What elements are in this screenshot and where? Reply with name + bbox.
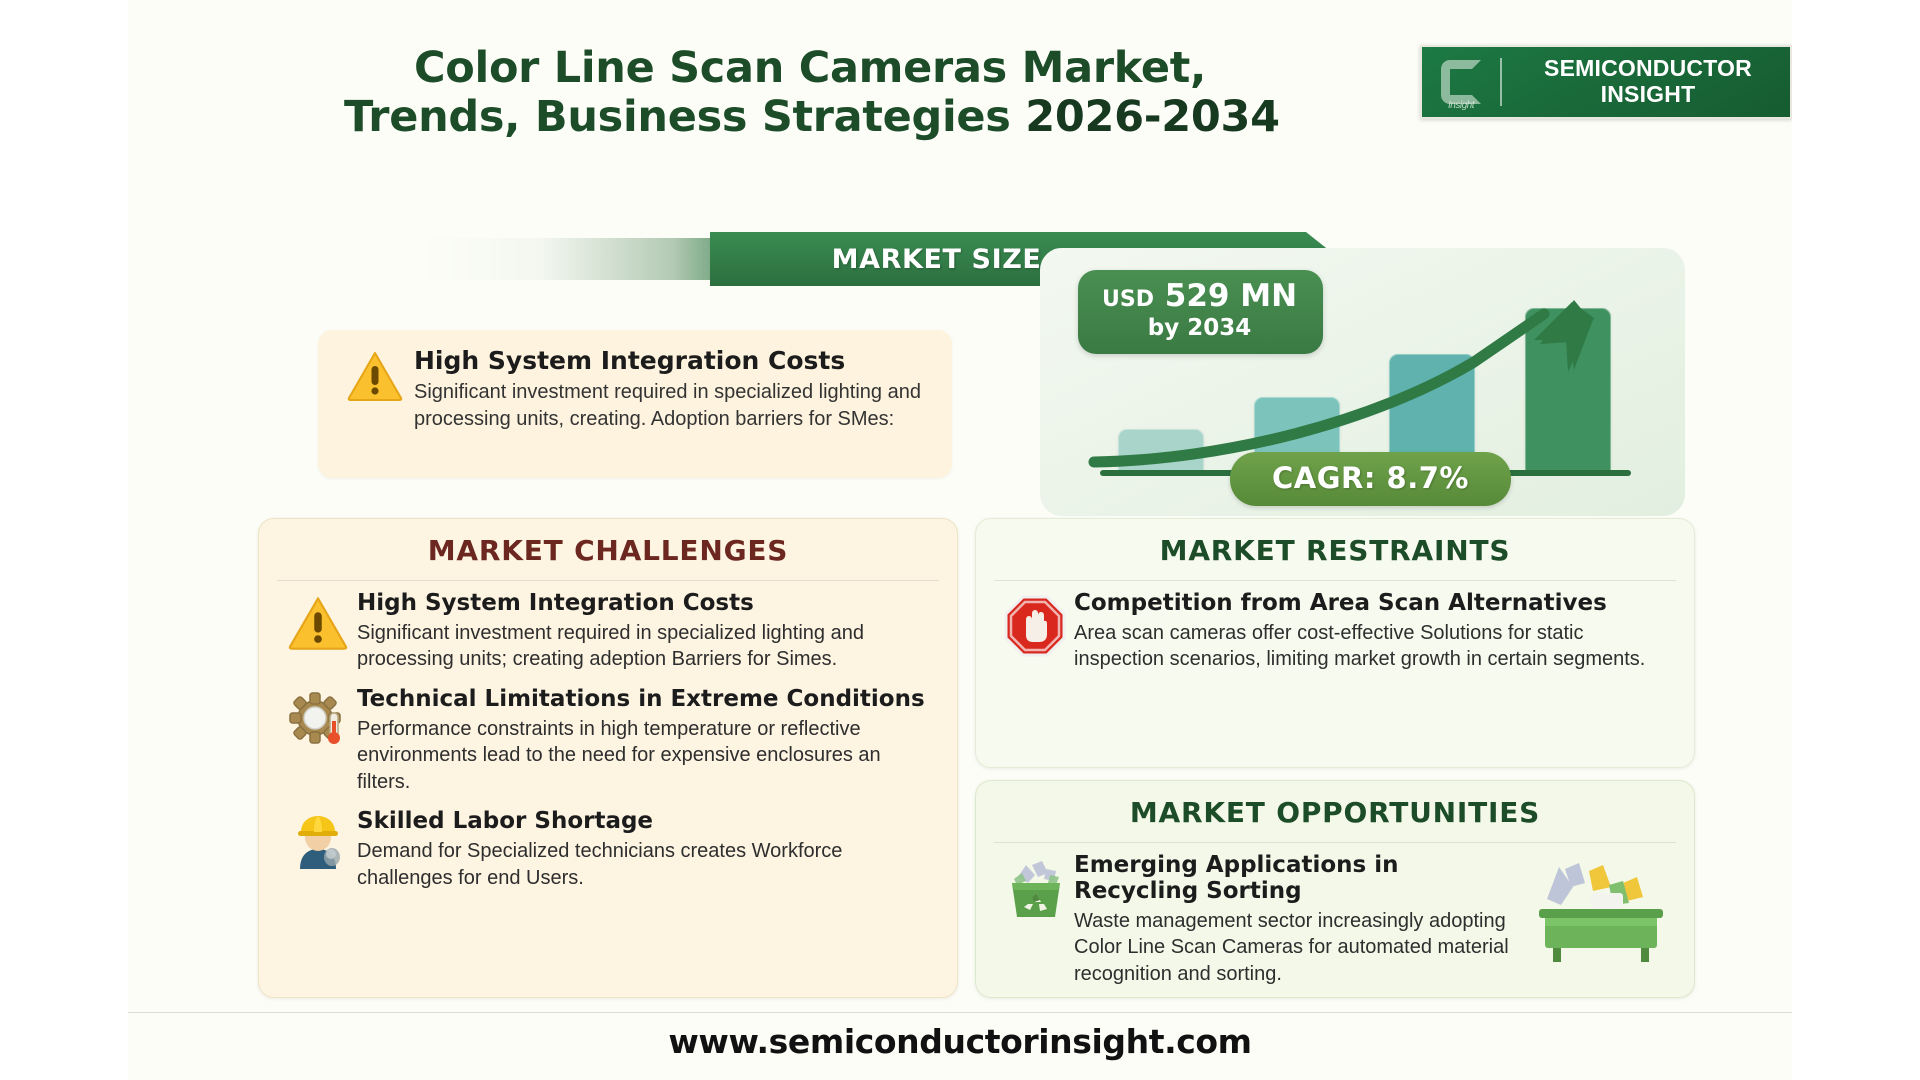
infographic-canvas: Color Line Scan Cameras Market, Trends, … — [0, 0, 1920, 1080]
item-description: Performance constraints in high temperat… — [357, 716, 933, 796]
gear-thermometer-icon — [281, 687, 355, 796]
title-line-2: Trends, Business Strategies 2026-2034 — [330, 93, 1390, 142]
list-item: Skilled Labor Shortage Demand for Specia… — [281, 809, 933, 891]
highlight-text: High System Integration Costs Significan… — [412, 346, 930, 462]
brand-logo: Insight SEMICONDUCTOR INSIGHT — [1420, 45, 1792, 119]
panel-opportunities-title: MARKET OPPORTUNITIES — [1130, 796, 1540, 829]
bar-0 — [1118, 429, 1204, 472]
market-value-line: USD 529 MN — [1102, 281, 1297, 312]
sorting-bin-icon — [1530, 853, 1670, 987]
page-title: Color Line Scan Cameras Market, Trends, … — [330, 44, 1390, 142]
panel-market-opportunities: MARKET OPPORTUNITIES — [975, 780, 1695, 998]
footer-divider — [128, 1012, 1792, 1013]
logo-line-2: INSIGHT — [1506, 82, 1790, 108]
warning-triangle-icon — [338, 346, 412, 462]
list-item: Emerging Applications in Recycling Sorti… — [998, 853, 1670, 987]
warning-triangle-icon — [281, 591, 355, 673]
highlight-card: High System Integration Costs Significan… — [318, 330, 952, 478]
panel-restraints-header: MARKET RESTRAINTS — [976, 519, 1694, 581]
panel-challenges-title: MARKET CHALLENGES — [428, 534, 789, 567]
item-heading: Technical Limitations in Extreme Conditi… — [357, 687, 933, 713]
cagr-badge: CAGR: 8.7% — [1230, 452, 1511, 506]
market-value-badge: USD 529 MN by 2034 — [1078, 270, 1323, 354]
footer-url: www.semiconductorinsight.com — [0, 1022, 1920, 1061]
item-heading: Competition from Area Scan Alternatives — [1074, 591, 1670, 617]
item-heading: High System Integration Costs — [357, 591, 933, 617]
highlight-heading: High System Integration Costs — [414, 346, 930, 375]
list-item: Technical Limitations in Extreme Conditi… — [281, 687, 933, 796]
title-line-2-text: Trends, Business Strategies — [344, 92, 1011, 142]
list-item: Competition from Area Scan Alternatives … — [998, 591, 1670, 673]
stop-hand-icon — [998, 591, 1072, 673]
logo-c-icon: Insight — [1422, 47, 1500, 117]
logo-line-1: SEMICONDUCTOR — [1506, 56, 1790, 82]
highlight-description: Significant investment required in speci… — [414, 379, 930, 433]
bar-3 — [1525, 308, 1611, 472]
title-line-1: Color Line Scan Cameras Market, — [330, 44, 1390, 93]
value-year-label: by 2034 — [1102, 315, 1297, 341]
list-item: High System Integration Costs Significan… — [281, 591, 933, 673]
panel-market-challenges: MARKET CHALLENGES High System Integratio… — [258, 518, 958, 998]
recycle-bin-icon — [998, 853, 1072, 987]
item-heading: Skilled Labor Shortage — [357, 809, 933, 835]
panel-restraints-title: MARKET RESTRAINTS — [1160, 534, 1511, 567]
cagr-label: CAGR: 8.7% — [1272, 461, 1469, 495]
item-heading: Emerging Applications in Recycling Sorti… — [1074, 853, 1530, 905]
panel-opportunities-body: Emerging Applications in Recycling Sorti… — [976, 843, 1694, 998]
right-margin — [1792, 0, 1920, 1080]
item-description: Waste management sector increasingly ado… — [1074, 908, 1530, 988]
panel-challenges-header: MARKET CHALLENGES — [259, 519, 957, 581]
item-description: Area scan cameras offer cost-effective S… — [1074, 620, 1670, 673]
value-amount: 529 MN — [1165, 278, 1297, 314]
logo-submark-text: Insight — [1422, 100, 1500, 111]
item-description: Significant investment required in speci… — [357, 620, 933, 673]
currency-label: USD — [1102, 287, 1154, 312]
panel-challenges-body: High System Integration Costs Significan… — [259, 581, 957, 905]
market-size-chart: USD 529 MN by 2034 CAGR: 8.7% — [1040, 248, 1685, 516]
item-description: Demand for Specialized technicians creat… — [357, 838, 933, 891]
panel-market-restraints: MARKET RESTRAINTS Competition from Area … — [975, 518, 1695, 768]
panel-opportunities-header: MARKET OPPORTUNITIES — [976, 781, 1694, 843]
panel-restraints-body: Competition from Area Scan Alternatives … — [976, 581, 1694, 687]
title-years: 2026-2034 — [1025, 92, 1280, 142]
left-margin — [0, 0, 128, 1080]
logo-wordmark: SEMICONDUCTOR INSIGHT — [1502, 56, 1790, 108]
worker-helmet-icon — [281, 809, 355, 891]
